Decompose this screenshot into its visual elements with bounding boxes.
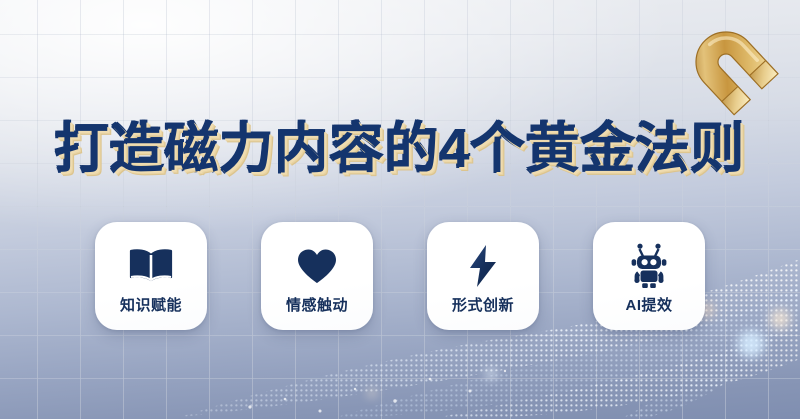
- open-book-icon: [128, 240, 174, 292]
- heart-icon: [296, 240, 338, 292]
- card-label: 形式创新: [452, 298, 514, 313]
- card-label: AI提效: [625, 298, 672, 313]
- card-ai-efficiency[interactable]: AI提效: [593, 222, 705, 330]
- lightning-bolt-icon: [467, 240, 499, 292]
- card-format-innovation[interactable]: 形式创新: [427, 222, 539, 330]
- card-emotional-touch[interactable]: 情感触动: [261, 222, 373, 330]
- card-knowledge-empowerment[interactable]: 知识赋能: [95, 222, 207, 330]
- bokeh-dot: [486, 369, 496, 379]
- poster-canvas: 打造磁力内容的4个黄金法则 知识赋能 情感触动: [0, 0, 800, 419]
- principles-card-row: 知识赋能 情感触动: [0, 222, 800, 330]
- page-title: 打造磁力内容的4个黄金法则: [0, 104, 800, 183]
- robot-icon: [626, 240, 672, 292]
- bokeh-dot: [368, 389, 376, 397]
- card-label: 情感触动: [286, 298, 348, 313]
- card-label: 知识赋能: [120, 298, 182, 313]
- bokeh-dot: [738, 331, 764, 357]
